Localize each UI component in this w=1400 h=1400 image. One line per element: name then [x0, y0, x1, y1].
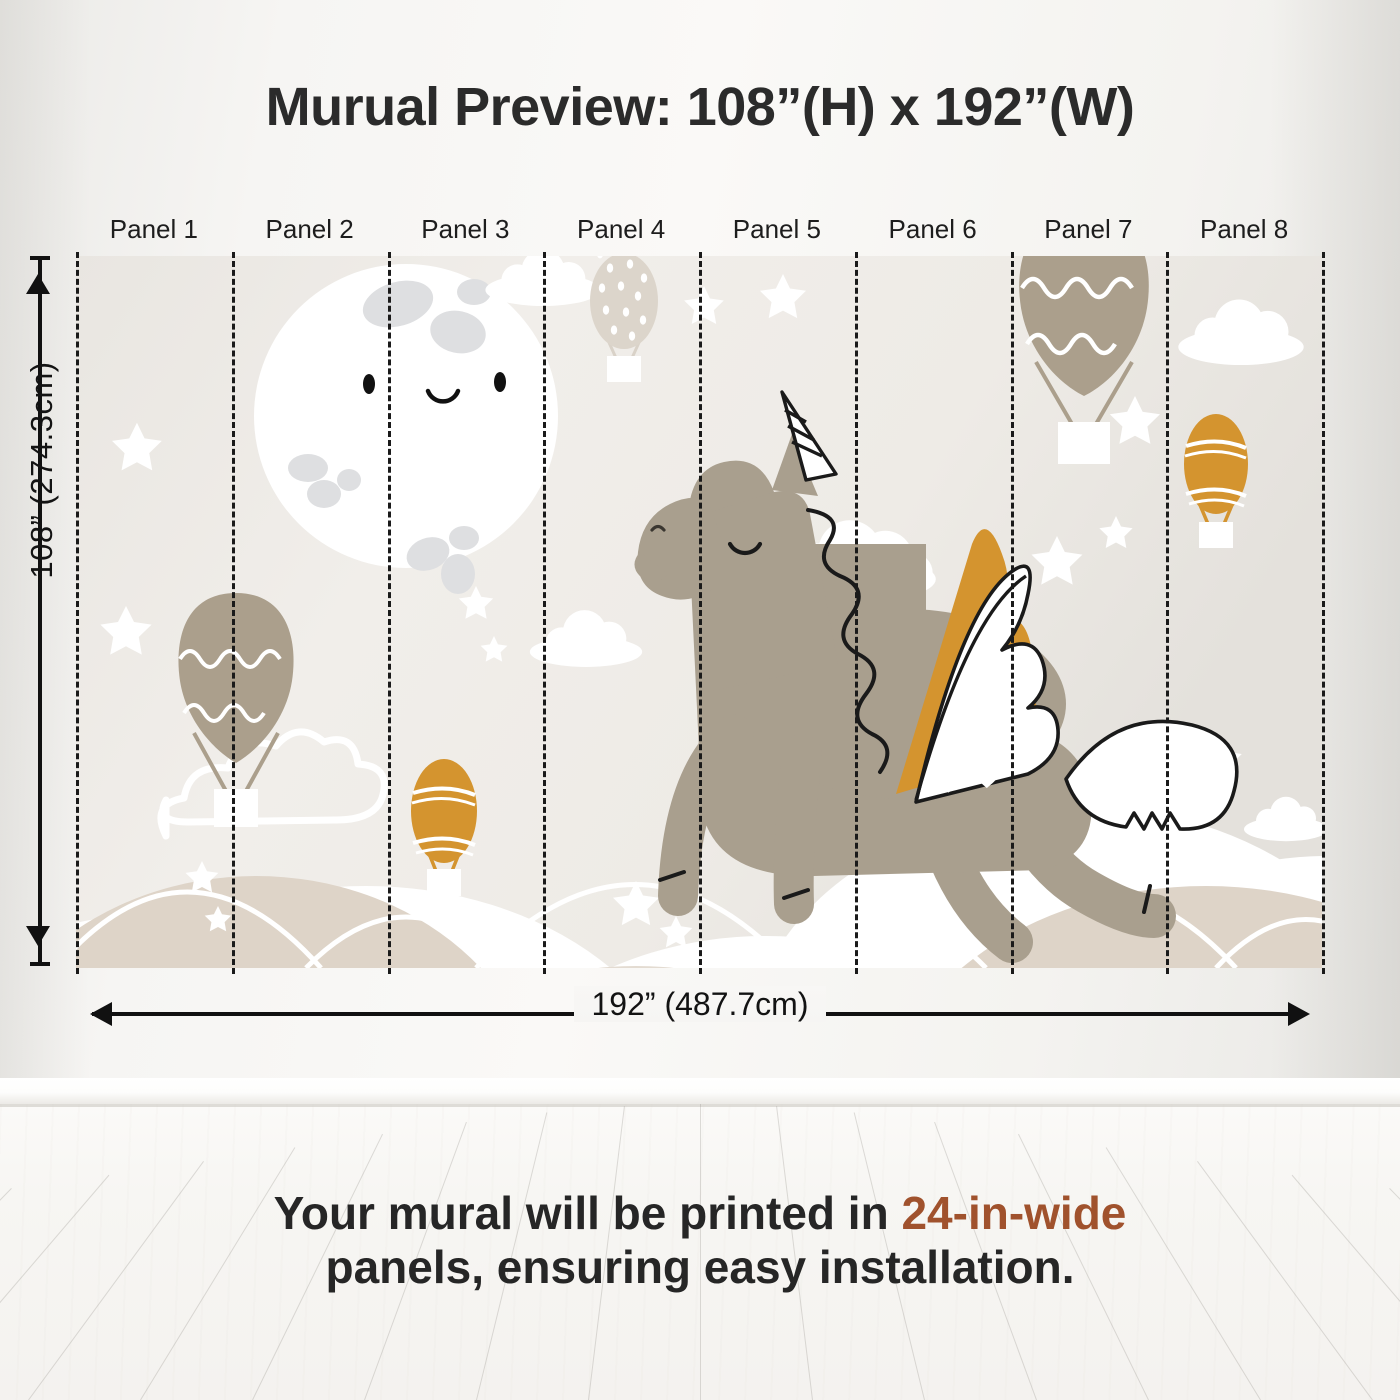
panel-divider-5	[855, 252, 858, 974]
panel-label-7: Panel 7	[1008, 214, 1168, 245]
baseboard	[0, 1078, 1400, 1104]
panel-divider-2	[388, 252, 391, 974]
panel-label-6: Panel 6	[853, 214, 1013, 245]
room-scene: Murual Preview: 108”(H) x 192”(W)	[0, 0, 1400, 1400]
height-arrow-up	[26, 274, 50, 294]
unicorn-front-leg-2	[794, 754, 802, 904]
panel-divider-7	[1166, 252, 1169, 974]
page-title: Murual Preview: 108”(H) x 192”(W)	[0, 76, 1400, 138]
panel-label-4: Panel 4	[541, 214, 701, 245]
panel-divider-4	[699, 252, 702, 974]
moon-eye-left	[363, 374, 375, 394]
caption-line-1: Your mural will be printed in 24-in-wide	[0, 1186, 1400, 1240]
width-label: 192” (487.7cm)	[0, 986, 1400, 1023]
panel-label-3: Panel 3	[385, 214, 545, 245]
panel-label-1: Panel 1	[74, 214, 234, 245]
height-arrow-down	[26, 926, 50, 946]
panel-divider-8	[1322, 252, 1325, 974]
caption-accent: 24-in-wide	[901, 1187, 1126, 1239]
caption-line1-before: Your mural will be printed in	[274, 1187, 902, 1239]
width-label-text: 192” (487.7cm)	[574, 986, 827, 1022]
caption: Your mural will be printed in 24-in-wide…	[0, 1186, 1400, 1295]
height-label: 108” (274.3cm)	[24, 310, 60, 630]
moon-eye-right	[494, 372, 506, 392]
caption-line-2: panels, ensuring easy installation.	[0, 1240, 1400, 1294]
panel-label-2: Panel 2	[230, 214, 390, 245]
panel-label-8: Panel 8	[1164, 214, 1324, 245]
panel-divider-6	[1011, 252, 1014, 974]
panel-label-5: Panel 5	[697, 214, 857, 245]
panel-divider-1	[232, 252, 235, 974]
panel-divider-3	[543, 252, 546, 974]
panel-divider-0	[76, 252, 79, 974]
